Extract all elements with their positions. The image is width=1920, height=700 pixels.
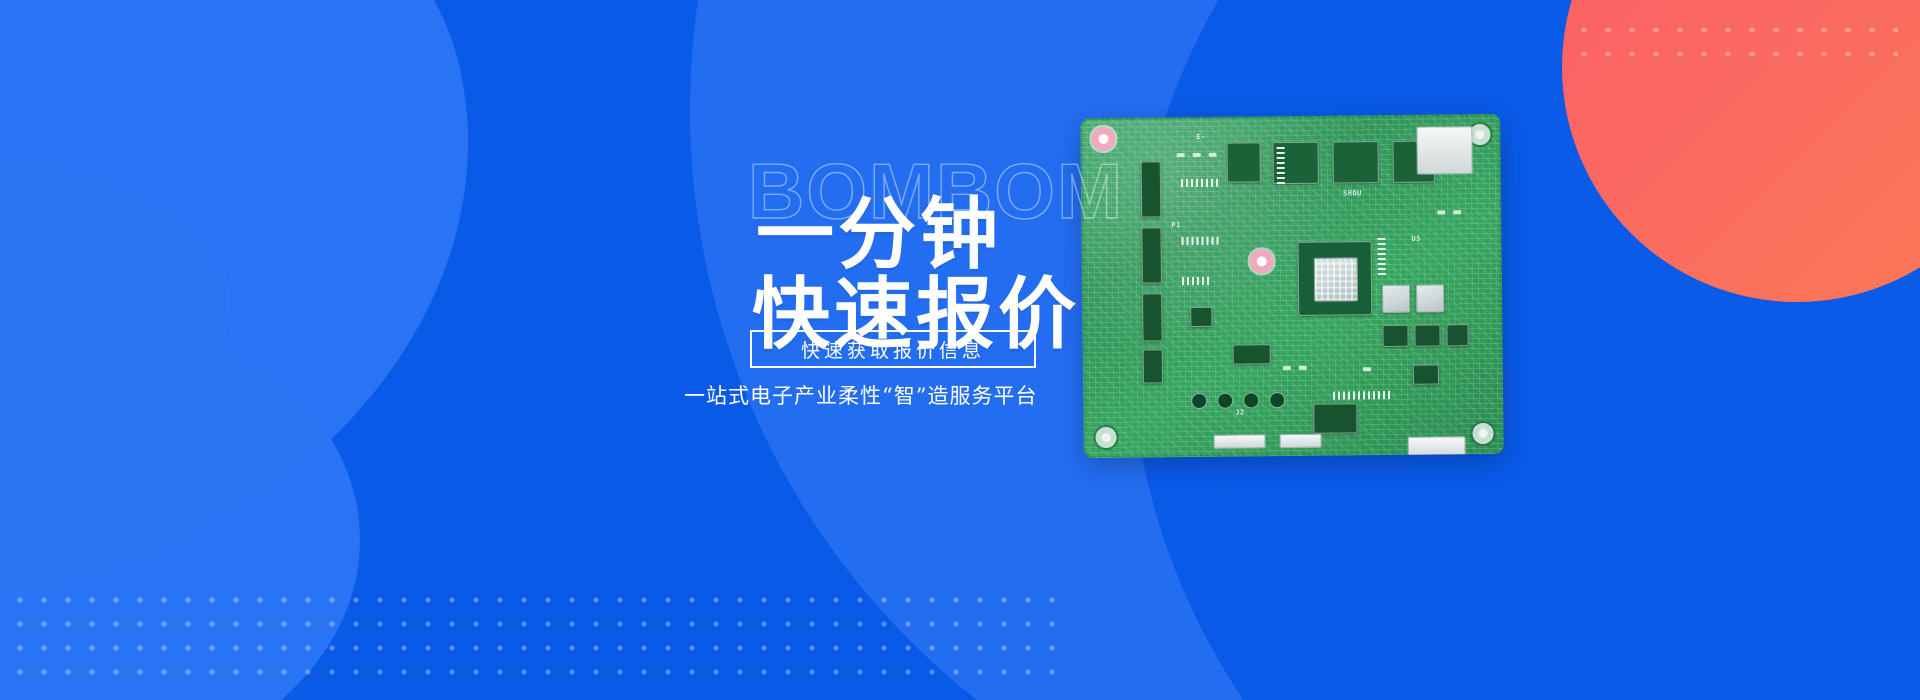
pcb-ic-left-3 — [1142, 293, 1163, 341]
pcb-inductor-2 — [1416, 284, 1444, 312]
pcb-silk-label-4: J2 — [1235, 409, 1245, 417]
pcb-smd-3 — [1209, 153, 1217, 157]
pcb-ic-memory-4 — [1226, 142, 1260, 182]
pcb-board-image: SHOU E- P1 U5 J2 — [1080, 114, 1504, 458]
pcb-ic-memory-2 — [1332, 141, 1378, 183]
pcb-smd-7 — [1299, 366, 1307, 370]
pcb-card-connector — [1416, 126, 1472, 175]
pcb-ic-left-4 — [1143, 349, 1163, 383]
pcb-capacitor-4 — [1269, 392, 1285, 408]
pcb-mount-hole-tl — [1098, 134, 1108, 144]
dot-grid-top-right — [1572, 18, 1898, 68]
pcb-silk-label-3: U5 — [1411, 235, 1421, 243]
pcb-silk-label-2: P1 — [1171, 221, 1181, 229]
promo-banner: SHOU E- P1 U5 J2 BOMBOM 一分钟 快速报价 快速获取报价信… — [0, 0, 1920, 700]
pcb-header-bottom-1 — [1214, 434, 1266, 449]
pcb-pin-row-4 — [1277, 144, 1285, 184]
pcb-qfn-2 — [1414, 324, 1440, 346]
pcb-capacitor-2 — [1217, 393, 1233, 409]
pcb-ic-left-1 — [1141, 161, 1162, 217]
pcb-qfn-5 — [1190, 307, 1212, 327]
pcb-mount-hole-tr — [1475, 130, 1484, 139]
pcb-smd-6 — [1283, 366, 1291, 370]
pcb-qfn-1 — [1382, 325, 1408, 347]
pcb-silk-label-brand: SHOU — [1343, 189, 1362, 197]
pcb-mount-hole-br — [1479, 429, 1488, 438]
pcb-mount-hole-bl — [1102, 433, 1111, 442]
pcb-inductor-1 — [1382, 285, 1410, 313]
pcb-qfn-4 — [1233, 344, 1271, 364]
pcb-pin-row-3 — [1182, 277, 1212, 285]
pcb-header-bottom-2 — [1280, 434, 1322, 448]
pcb-pin-row-5 — [1377, 235, 1385, 275]
pcb-smd-5 — [1453, 210, 1461, 214]
pcb-smd-4 — [1437, 210, 1445, 214]
pcb-qfn-7 — [1413, 364, 1439, 384]
pcb-silk-label-1: E- — [1196, 133, 1206, 141]
pcb-substrate: SHOU E- P1 U5 J2 — [1080, 114, 1504, 458]
pcb-pin-row-1 — [1181, 179, 1219, 187]
pcb-capacitor-1 — [1191, 393, 1207, 409]
pcb-pin-row-2 — [1181, 237, 1219, 245]
pcb-qfn-3 — [1446, 324, 1468, 346]
pcb-smd-2 — [1193, 153, 1201, 157]
pcb-pin-row-6 — [1333, 391, 1393, 400]
pcb-cpu-die — [1314, 257, 1358, 301]
pcb-smd-1 — [1177, 153, 1185, 157]
pcb-capacitor-3 — [1243, 392, 1259, 408]
pcb-mount-hole-mid — [1257, 256, 1267, 266]
pcb-qfn-6 — [1313, 403, 1357, 433]
pcb-smd-8 — [1363, 367, 1371, 371]
pcb-ic-left-2 — [1141, 227, 1162, 283]
dot-grid-bottom-left — [8, 588, 1068, 688]
